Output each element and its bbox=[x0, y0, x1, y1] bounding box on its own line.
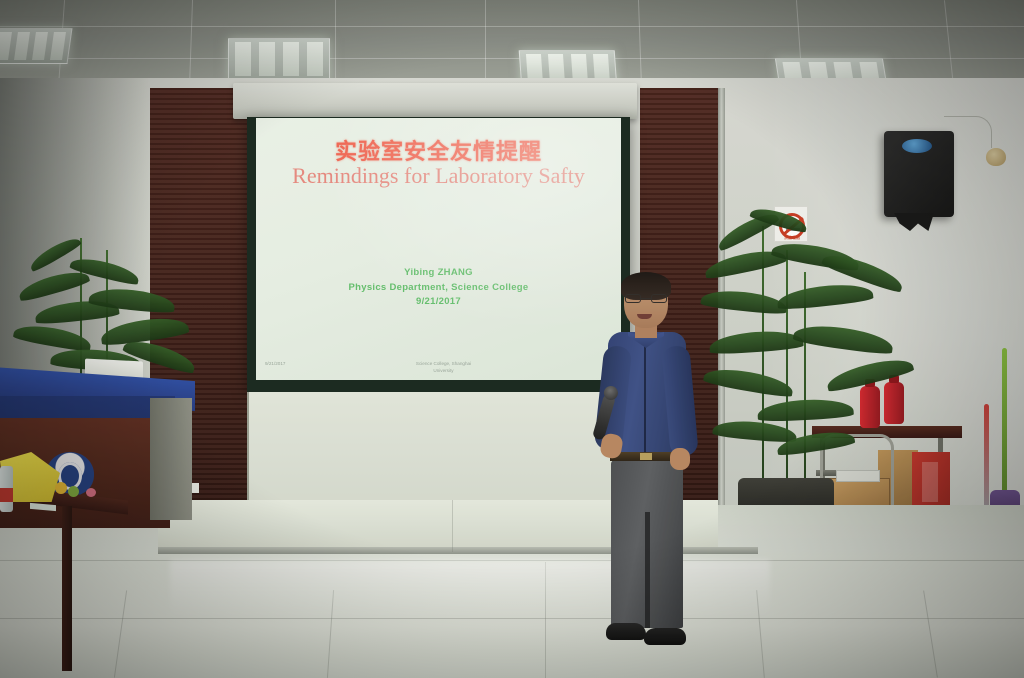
potted-plant-right bbox=[700, 206, 920, 506]
podium-side-panel bbox=[150, 398, 192, 520]
lecture-hall-photo: 实验室安全友情提醒 Remindings for Laboratory Saft… bbox=[0, 0, 1024, 678]
slide-title-english: Remindings for Laboratory Safty bbox=[256, 163, 621, 189]
slide-footer-line1: Science College, Shanghai bbox=[295, 361, 592, 368]
side-table-leg bbox=[62, 506, 72, 671]
speaker-badge bbox=[902, 139, 932, 153]
slide-author-name: Yibing ZHANG bbox=[256, 266, 621, 281]
slide-footer-date: 9/21/2017 bbox=[265, 361, 295, 366]
slide-author-affiliation: Physics Department, Science College bbox=[256, 281, 621, 296]
slide-title-chinese: 实验室安全友情提醒 bbox=[256, 134, 621, 166]
fruit-green bbox=[68, 486, 79, 497]
mop-handle-green bbox=[1002, 348, 1007, 498]
slide-date: 9/21/2017 bbox=[256, 295, 621, 310]
ceiling-sensor bbox=[986, 148, 1006, 166]
screen-lower-wall bbox=[247, 392, 630, 507]
fruit-orange bbox=[55, 482, 67, 494]
ceiling-light-panel bbox=[228, 38, 330, 80]
mop-handle-red bbox=[984, 404, 989, 516]
presenter-hand-right bbox=[670, 448, 690, 470]
slide-author-block: Yibing ZHANG Physics Department, Science… bbox=[256, 266, 621, 310]
presenter-shoe-right bbox=[644, 628, 686, 645]
eyeglasses-icon bbox=[625, 294, 667, 303]
ceiling-light-panel bbox=[0, 28, 73, 64]
presenter-shoe-left bbox=[606, 623, 646, 640]
presenter bbox=[596, 276, 696, 651]
slide-footer: 9/21/2017 Science College, Shanghai Univ… bbox=[256, 361, 621, 375]
projected-slide: 实验室安全友情提醒 Remindings for Laboratory Saft… bbox=[256, 118, 621, 380]
trouser-gap bbox=[645, 512, 650, 628]
wall-speaker bbox=[884, 131, 954, 217]
projector-screen-housing bbox=[233, 83, 637, 119]
stage-seam bbox=[452, 500, 453, 552]
shirt-placket bbox=[644, 342, 646, 454]
slide-footer-line2: University bbox=[295, 368, 592, 375]
snack-item bbox=[86, 488, 96, 497]
red-box-label bbox=[922, 462, 938, 502]
water-bottle bbox=[0, 466, 13, 512]
slide-footer-center: Science College, Shanghai University bbox=[295, 361, 592, 375]
